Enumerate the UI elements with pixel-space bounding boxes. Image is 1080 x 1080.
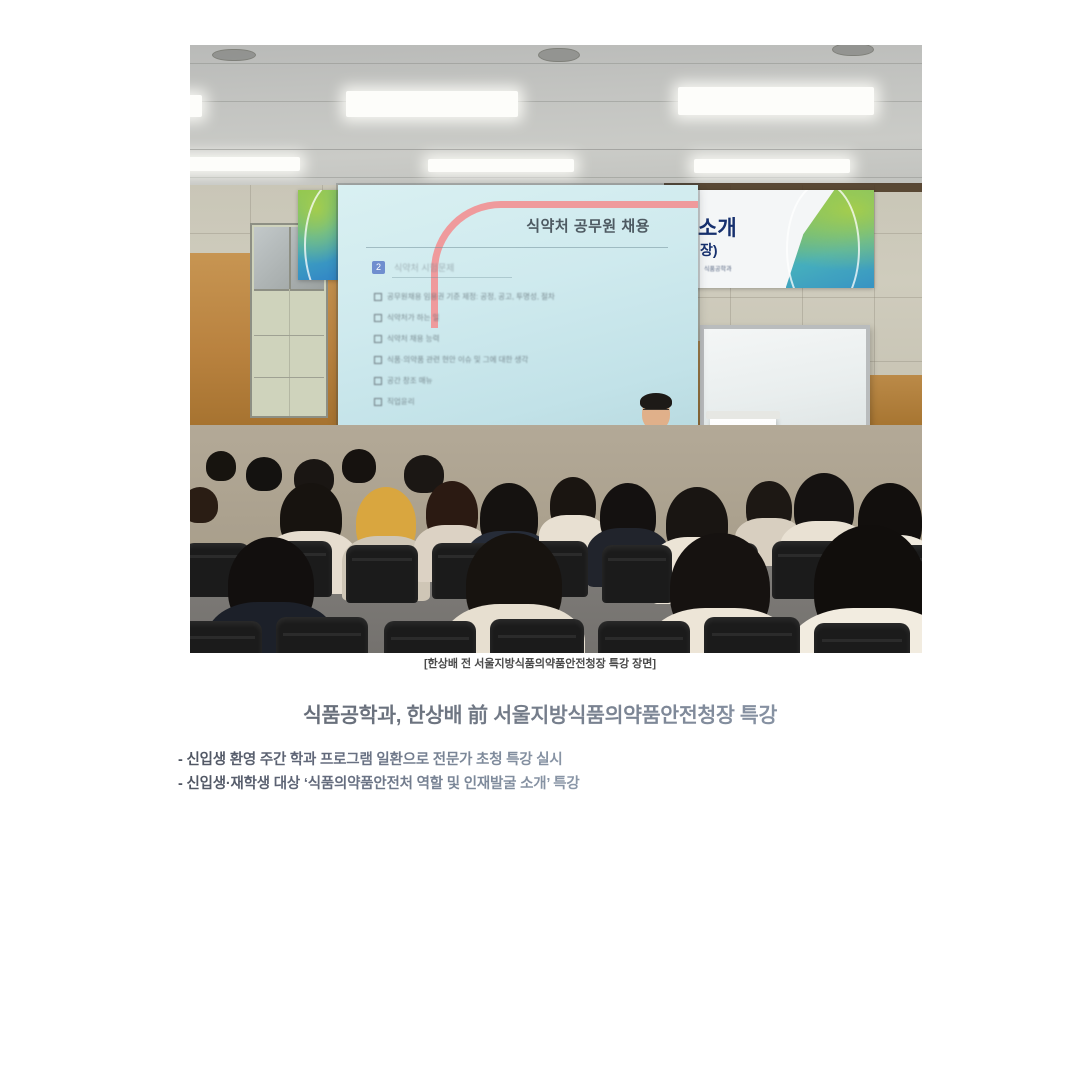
lecture-seat — [704, 617, 800, 653]
lecture-seat — [346, 545, 418, 603]
page-title: 식품공학과, 한상배 前 서울지방식품의약품안전청장 특강 — [0, 698, 1080, 728]
audience-person — [342, 449, 376, 483]
ceiling — [190, 45, 922, 193]
checkbox-icon — [374, 356, 382, 364]
ceiling-vent-icon — [832, 45, 874, 56]
ceiling-light — [428, 159, 574, 172]
slide-bullet-item: 식품·의약품 관련 현안 이슈 및 그에 대한 생각 — [374, 354, 678, 365]
ceiling-light — [678, 87, 874, 115]
summary-bullet-item: - 신입생·재학생 대상 ‘식품의약품안전처 역할 및 인재발굴 소개’ 특강 — [178, 772, 580, 796]
ceiling-light — [694, 159, 850, 173]
audience-person — [550, 477, 596, 533]
slide-bullet-item: 식약처가 하는 일 — [374, 312, 678, 323]
checkbox-icon — [374, 314, 382, 322]
audience-person — [746, 481, 792, 535]
audience-person — [206, 451, 236, 481]
slide-title: 식약처 공무원 채용 — [526, 215, 650, 236]
slide-bullet-item: 공간 창조 매뉴 — [374, 375, 678, 386]
audience-person — [246, 457, 282, 491]
lecture-photo: 식 소개 장) 식품공학과 식약처 공무원 채용 — [190, 45, 922, 653]
checkbox-icon — [374, 398, 382, 406]
ceiling-light — [190, 95, 202, 117]
slide-bullet-item: 식약처 채용 능력 — [374, 333, 678, 344]
lecture-seat — [814, 623, 910, 653]
lecture-seat — [602, 545, 672, 603]
lecture-seat — [190, 621, 262, 653]
checkbox-icon — [374, 335, 382, 343]
slide-bullet-item: 공무원채용 임용권 기준 제정: 공정, 공고, 투명성, 절차 — [374, 291, 678, 302]
slide-section-label: 식약처 시험문제 — [394, 261, 454, 274]
wall-banner-right: 소개 장) 식품공학과 — [690, 190, 874, 288]
lecture-seat — [598, 621, 690, 653]
banner-right-text: 소개 — [698, 212, 737, 242]
ceiling-vent-icon — [212, 49, 256, 61]
document-page: 식 소개 장) 식품공학과 식약처 공무원 채용 — [0, 0, 1080, 1080]
slide-section-number: 2 — [372, 261, 385, 274]
checkbox-icon — [374, 293, 382, 301]
checkbox-icon — [374, 377, 382, 385]
photo-caption: [한상배 전 서울지방식품의약품안전청장 특강 장면] — [0, 655, 1080, 671]
summary-bullet-list: - 신입생 환영 주간 학과 프로그램 일환으로 전문가 초청 특강 실시 - … — [178, 748, 580, 796]
audience-person — [600, 483, 656, 549]
glasses-icon — [643, 409, 669, 415]
lecture-seat — [490, 619, 584, 653]
ceiling-light — [346, 91, 518, 117]
lecture-seat — [276, 617, 368, 653]
banner-right-text-small: 식품공학과 — [704, 264, 732, 273]
ceiling-vent-icon — [538, 48, 580, 62]
audience-person — [190, 487, 218, 523]
photo-content: 식 소개 장) 식품공학과 식약처 공무원 채용 — [190, 45, 922, 653]
banner-right-text-secondary: 장) — [700, 240, 718, 260]
audience-seating — [190, 425, 922, 653]
ceiling-light — [190, 157, 300, 171]
summary-bullet-item: - 신입생 환영 주간 학과 프로그램 일환으로 전문가 초청 특강 실시 — [178, 748, 580, 772]
lecture-seat — [384, 621, 476, 653]
